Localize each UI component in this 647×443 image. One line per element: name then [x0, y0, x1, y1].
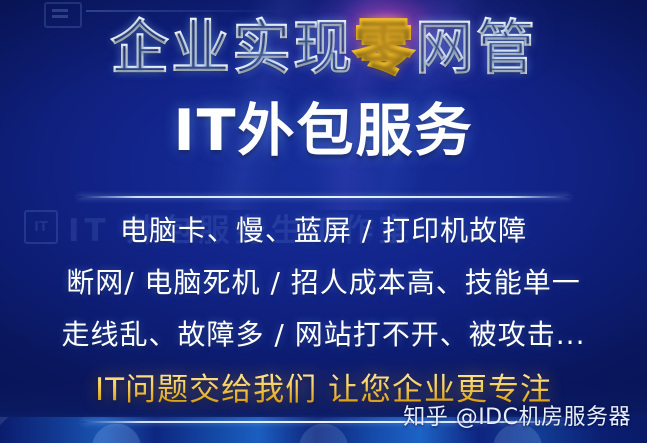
pain-point-list: 电脑卡、慢、蓝屏 / 打印机故障 断网/ 电脑死机 / 招人成本高、技能单一 走… [0, 205, 647, 361]
pain-point-item: 走线乱、故障多 / 网站打不开、被攻击... [0, 309, 647, 361]
poster-canvas: IT IT 外包服务生工作室 企业实现零网管 IT外包服务 电脑卡、慢、蓝屏 /… [0, 0, 647, 443]
headline-secondary: IT外包服务 [0, 96, 647, 166]
headline-primary-part2: 网管 [415, 13, 537, 82]
pain-point-item: 电脑卡、慢、蓝屏 / 打印机故障 [0, 205, 647, 257]
source-watermark: 知乎 @IDC机房服务器 [403, 404, 631, 432]
pain-point-item: 断网/ 电脑死机 / 招人成本高、技能单一 [0, 257, 647, 309]
divider-top [78, 196, 570, 198]
headline-primary-part1: 企业实现 [110, 13, 354, 82]
headline-primary: 企业实现零网管 [0, 16, 647, 80]
headline-primary-highlight: 零 [354, 13, 415, 82]
